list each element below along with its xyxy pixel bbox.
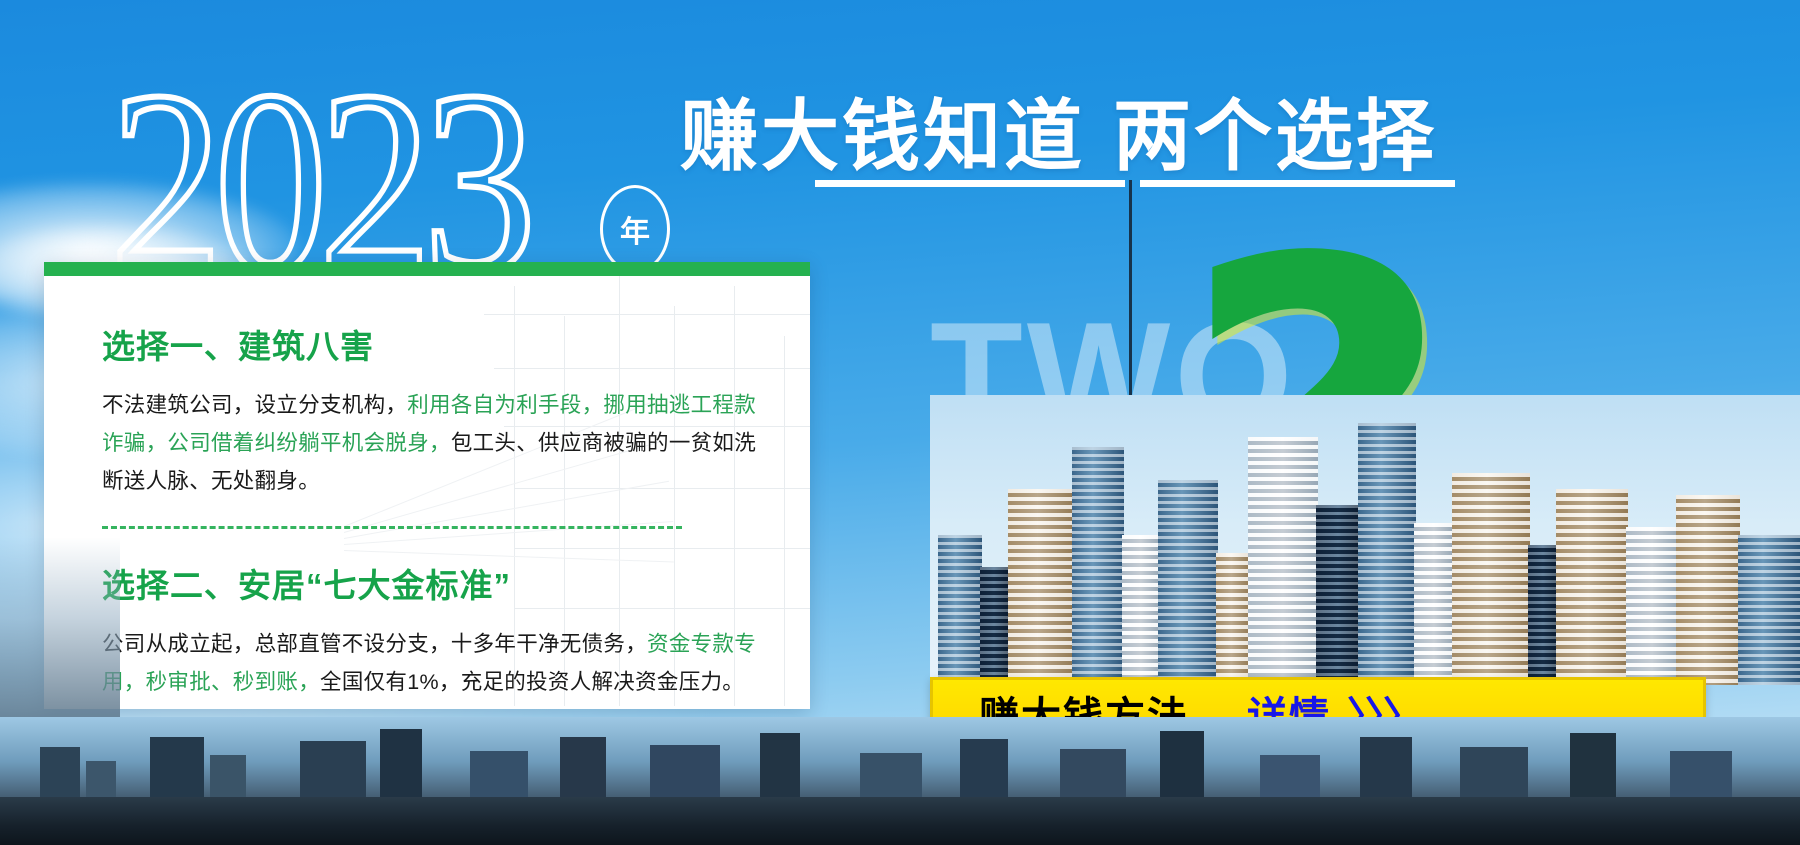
building <box>1738 535 1800 685</box>
building <box>1528 545 1558 685</box>
headline-part-1: 赚大钱知道 <box>680 92 1085 180</box>
building <box>938 535 982 685</box>
building <box>1556 489 1628 685</box>
building <box>1060 749 1126 799</box>
building <box>210 755 246 799</box>
building <box>960 739 1008 799</box>
headline-rule-left <box>815 180 1125 187</box>
building <box>380 729 422 799</box>
building <box>1460 747 1528 799</box>
building <box>1216 553 1250 685</box>
building <box>1414 523 1454 685</box>
section-2-text-c: 全国仅有1%，充足的投资人解决资金压力。 <box>320 670 744 694</box>
building <box>1676 495 1740 685</box>
card-top-accent-bar <box>44 262 810 276</box>
building <box>1248 437 1318 685</box>
content-card: 选择一、建筑八害 不法建筑公司，设立分支机构，利用各自为利手段，挪用抽逃工程款诈… <box>44 262 810 709</box>
bridge-silhouette <box>0 537 120 717</box>
building <box>470 751 528 799</box>
section-1-title: 选择一、建筑八害 <box>102 320 758 368</box>
building <box>1072 447 1124 685</box>
building <box>300 741 366 799</box>
building <box>1452 473 1530 685</box>
city-skyline-image <box>930 395 1800 685</box>
building <box>40 747 80 799</box>
building <box>1122 535 1160 685</box>
building <box>1626 527 1678 685</box>
section-2-title: 选择二、安居“七大金标准” <box>102 559 758 607</box>
building <box>760 733 800 799</box>
section-2-body: 公司从成立起，总部直管不设分支，十多年干净无债务，资金专款专用，秒审批、秒到账，… <box>102 625 758 701</box>
building <box>1358 423 1416 685</box>
building <box>1360 737 1412 799</box>
section-1-text-a: 不法建筑公司，设立分支机构， <box>102 393 407 417</box>
building <box>860 753 922 799</box>
section-1-body: 不法建筑公司，设立分支机构，利用各自为利手段，挪用抽逃工程款诈骗，公司借着纠纷躺… <box>102 386 758 500</box>
bottom-skyline-strip <box>0 717 1800 845</box>
section-2-text-a: 公司从成立起，总部直管不设分支，十多年干净无债务， <box>102 632 647 656</box>
building <box>1158 480 1218 685</box>
building <box>1316 505 1360 685</box>
section-divider <box>102 526 682 529</box>
card-content: 选择一、建筑八害 不法建筑公司，设立分支机构，利用各自为利手段，挪用抽逃工程款诈… <box>44 276 810 709</box>
building <box>1670 751 1732 799</box>
building <box>560 737 606 799</box>
water-reflection <box>0 797 1800 845</box>
building <box>980 567 1008 685</box>
building <box>1008 489 1074 685</box>
year-unit-badge: 年 <box>600 185 670 273</box>
building <box>1570 733 1616 799</box>
building <box>86 761 116 799</box>
year-graphic: 2023 <box>110 58 508 262</box>
promo-banner: 2023 年 赚大钱知道两个选择 TWO choices ? 赚大钱方法 详情 <box>0 0 1800 845</box>
building <box>1260 755 1320 799</box>
building <box>1160 731 1204 799</box>
building <box>650 745 720 799</box>
building <box>150 737 204 799</box>
